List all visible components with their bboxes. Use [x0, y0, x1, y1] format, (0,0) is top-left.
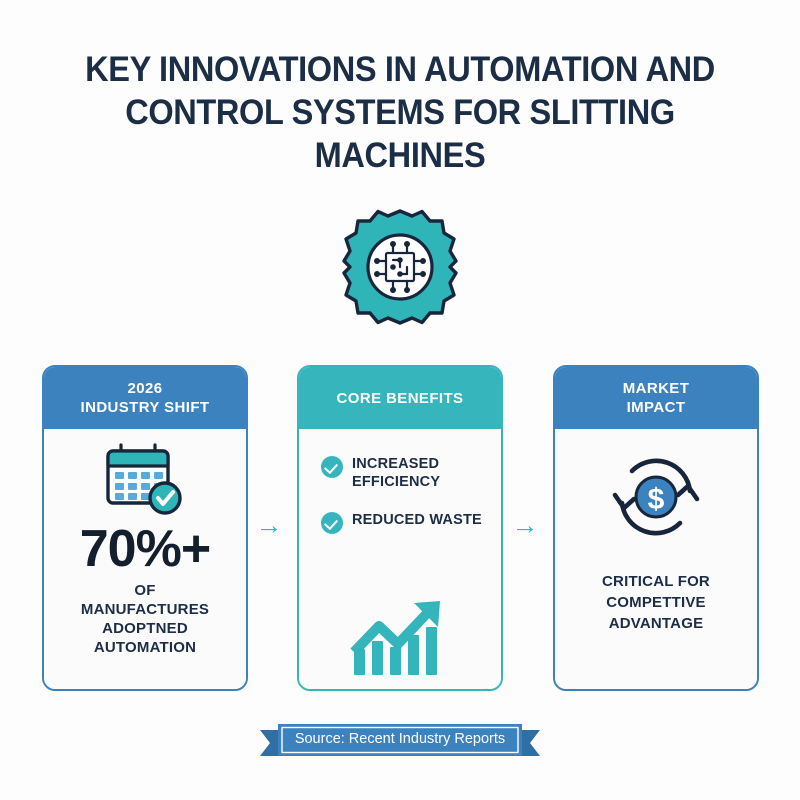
card-header-core-benefits: CORE BENEFITS	[299, 367, 501, 429]
gear-circuit-icon	[338, 205, 462, 329]
calendar-check-icon	[103, 443, 187, 517]
impact-line1: CRITICAL FOR	[555, 571, 757, 592]
benefit-label: INCREASED EFFICIENCY	[352, 455, 440, 491]
list-item: INCREASED EFFICIENCY	[321, 455, 489, 491]
stat-desc-line4: AUTOMATION	[44, 638, 246, 657]
source-text: Source: Recent Industry Reports	[260, 722, 540, 756]
growth-bar-chart-icon	[348, 597, 452, 675]
list-item: REDUCED WASTE	[321, 511, 489, 534]
page-title-wrap: KEY INNOVATIONS IN AUTOMATION AND CONTRO…	[60, 48, 740, 177]
card-header-line1: 2026	[128, 379, 163, 398]
source-ribbon: Source: Recent Industry Reports	[260, 722, 540, 762]
cards-row: 2026 INDUSTRY SHIFT	[40, 365, 760, 691]
impact-line2: COMPETTIVE	[555, 592, 757, 613]
stat-value: 70%+	[44, 521, 246, 577]
card-body-core-benefits: INCREASED EFFICIENCY REDUCED WASTE	[299, 429, 501, 689]
check-circle-icon	[321, 512, 343, 534]
card-industry-shift[interactable]: 2026 INDUSTRY SHIFT	[42, 365, 248, 691]
card-header-industry-shift: 2026 INDUSTRY SHIFT	[44, 367, 246, 429]
connector-arrow-2: →	[508, 508, 542, 542]
benefit-line1: REDUCED WASTE	[352, 512, 482, 528]
impact-description: CRITICAL FOR COMPETTIVE ADVANTAGE	[555, 571, 757, 634]
benefit-label: REDUCED WASTE	[352, 511, 482, 529]
impact-line3: ADVANTAGE	[555, 613, 757, 634]
stat-desc-line2: MANUFACTURES	[44, 600, 246, 619]
card-body-industry-shift: 70%+ OF MANUFACTURES ADOPTNED AUTOMATION	[44, 429, 246, 689]
check-circle-icon	[321, 456, 343, 478]
card-core-benefits[interactable]: CORE BENEFITS INCREASED EFFICIENCY REDUC…	[297, 365, 503, 691]
benefit-line2: EFFICIENCY	[352, 474, 440, 490]
stat-desc-line3: ADOPTNED	[44, 619, 246, 638]
svg-text:$: $	[648, 483, 665, 516]
card-header-market-impact: MARKET IMPACT	[555, 367, 757, 429]
dollar-cycle-icon: $	[610, 451, 702, 543]
page-title: KEY INNOVATIONS IN AUTOMATION AND CONTRO…	[84, 48, 716, 177]
card-header-line2: INDUSTRY SHIFT	[81, 398, 210, 417]
card-header-line2: IMPACT	[627, 398, 686, 417]
card-body-market-impact: $ CRITICAL FOR COMPETTIVE ADVANTAGE	[555, 429, 757, 689]
connector-arrow-1: →	[252, 508, 286, 542]
card-header-line1: CORE BENEFITS	[337, 389, 464, 408]
benefits-list: INCREASED EFFICIENCY REDUCED WASTE	[321, 455, 489, 554]
stat-description: OF MANUFACTURES ADOPTNED AUTOMATION	[44, 581, 246, 657]
benefit-line1: INCREASED	[352, 456, 439, 472]
card-market-impact[interactable]: MARKET IMPACT $ CRITICAL FOR COMPETTIVE …	[553, 365, 759, 691]
stat-desc-line1: OF	[44, 581, 246, 600]
card-header-line1: MARKET	[623, 379, 690, 398]
